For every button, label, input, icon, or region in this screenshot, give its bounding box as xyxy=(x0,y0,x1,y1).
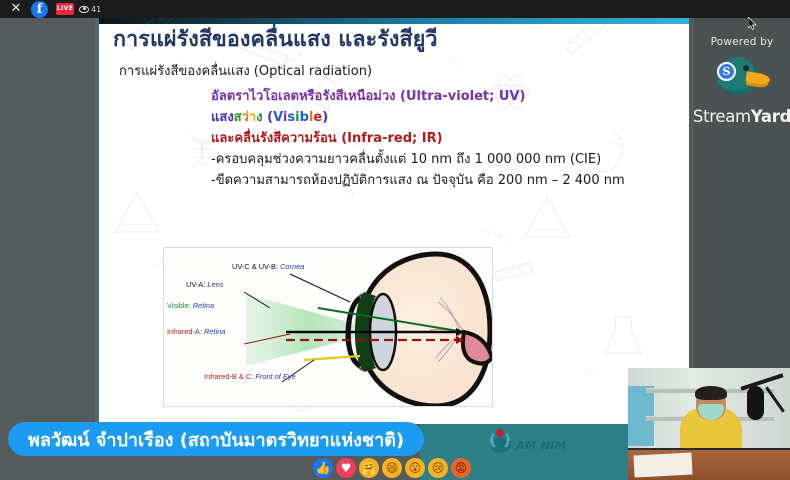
eye-label-infrared-bc: Infrared-B & C: Front of Eye xyxy=(204,372,296,381)
svg-text:a+b+c: a+b+c xyxy=(484,226,517,248)
eye-label-visible-prefix: Visible: xyxy=(167,301,193,310)
presentation-slide: mgA H₂O E=mc² a+b+c Σx √n πr² การแผ่รังส… xyxy=(95,17,689,424)
visible-line-part-6: V xyxy=(273,110,283,125)
eye-label-infrared-a: Infrared-A: Retina xyxy=(167,327,225,336)
eye-label-uvc-uvb-target: Cornea xyxy=(280,262,304,271)
love-reaction[interactable]: ♥ xyxy=(336,458,356,478)
presenter-hair xyxy=(695,386,727,400)
slide-content: การแผ่รังสีของคลื่นแสง และรังสียูวี การแ… xyxy=(95,17,689,191)
sad-reaction[interactable]: 😢 xyxy=(428,458,448,478)
powered-by-panel: Powered by S StreamYard xyxy=(694,18,790,378)
duck-badge-letter: S xyxy=(717,62,736,81)
streamyard-duck-logo-icon: S xyxy=(713,55,771,101)
bullet-wavelength-range: -ครอบคลุมช่วงความยาวคลื่นตั้งแต่ 10 nm ถ… xyxy=(211,149,675,170)
svg-text:πr²: πr² xyxy=(583,366,599,380)
viewer-count-group: 41 xyxy=(79,1,101,17)
powered-by-label: Powered by xyxy=(711,36,774,48)
visible-line-part-8: s xyxy=(287,110,295,125)
wow-reaction[interactable]: 😮 xyxy=(405,458,425,478)
angry-reaction[interactable]: 😡 xyxy=(451,458,471,478)
visible-line-part-13: ) xyxy=(322,110,328,125)
haha-reaction[interactable]: 😆 xyxy=(382,458,402,478)
nim-watermark-text: “I AM NIM xyxy=(500,439,566,452)
mouse-cursor-icon xyxy=(748,17,757,30)
eye-label-infrared-a-target: Retina xyxy=(204,327,225,336)
presenter-webcam-thumbnail[interactable] xyxy=(628,368,790,480)
visible-line-part-10: b xyxy=(300,110,309,125)
microphone-icon xyxy=(747,386,764,420)
eye-label-uva-prefix: UV-A: xyxy=(186,280,207,289)
brand-stream: Stream xyxy=(693,107,751,126)
eye-label-infrared-a-prefix: Infrared-A: xyxy=(167,327,204,336)
visible-line-part-12: e xyxy=(313,110,322,125)
eye-label-visible-target: Retina xyxy=(193,301,214,310)
like-reaction[interactable]: 👍 xyxy=(313,458,333,478)
slide-subtitle: การแผ่รังสีของคลื่นแสง (Optical radiatio… xyxy=(119,60,675,81)
viewer-count-label: 41 xyxy=(91,5,101,14)
bullet-lab-capability: -ขีดความสามารถห้องปฏิบัติการแสง ณ ปัจจุบ… xyxy=(211,170,675,191)
eye-label-uva-target: Lens xyxy=(207,280,223,289)
brand-yard: Yard xyxy=(751,107,790,126)
visible-line-part-5: ( xyxy=(263,110,273,125)
care-reaction[interactable]: 🤗 xyxy=(359,458,379,478)
bullet-visible: แสงสว่าง (Visible) xyxy=(211,107,675,128)
speaker-name-banner: พลวัฒน์ จำปาเรือง (สถาบันมาตรวิทยาแห่งชา… xyxy=(8,422,424,456)
eye-anatomy-radiation-diagram: UV-C & UV-B: Cornea UV-A: Lens Visible: … xyxy=(163,247,493,407)
close-icon[interactable]: ✕ xyxy=(8,1,24,17)
live-badge: LIVE xyxy=(56,3,74,15)
visible-line-part-1: ส xyxy=(234,110,242,125)
eye-label-visible: Visible: Retina xyxy=(167,301,214,310)
reaction-bar[interactable]: 👍♥🤗😆😮😢😡 xyxy=(313,458,471,478)
eye-icon xyxy=(79,6,89,13)
webcam-papers xyxy=(633,452,692,477)
eye-label-infrared-bc-target: Front of Eye xyxy=(255,372,295,381)
slide-title: การแผ่รังสีของคลื่นแสง และรังสียูวี xyxy=(113,27,675,54)
facebook-logo-icon[interactable]: f xyxy=(31,1,48,18)
eye-label-uvc-uvb-prefix: UV-C & UV-B: xyxy=(232,262,280,271)
visible-line-part-0: แสง xyxy=(211,110,234,125)
eye-label-uvc-uvb: UV-C & UV-B: Cornea xyxy=(232,262,304,271)
stream-viewport: ✕ f LIVE 41 Powered by S StreamYard xyxy=(0,0,790,480)
bullet-ultraviolet: อัลตราไวโอเลตหรือรังสีเหนือม่วง (Ultra-v… xyxy=(211,86,675,107)
facebook-live-topbar: ✕ f LIVE 41 xyxy=(0,0,790,18)
streamyard-brand-name: StreamYard xyxy=(693,107,790,126)
eye-label-uva: UV-A: Lens xyxy=(186,280,223,289)
visible-line-part-2: ว่ xyxy=(242,110,249,125)
eye-label-infrared-bc-prefix: Infrared-B & C: xyxy=(204,372,255,381)
bullet-infrared: และคลื่นรังสีความร้อน (Infra-red; IR) xyxy=(211,128,675,149)
slide-bullet-list: อัลตราไวโอเลตหรือรังสีเหนือม่วง (Ultra-v… xyxy=(119,86,675,191)
speaker-name-label: พลวัฒน์ จำปาเรือง (สถาบันมาตรวิทยาแห่งชา… xyxy=(28,425,404,454)
